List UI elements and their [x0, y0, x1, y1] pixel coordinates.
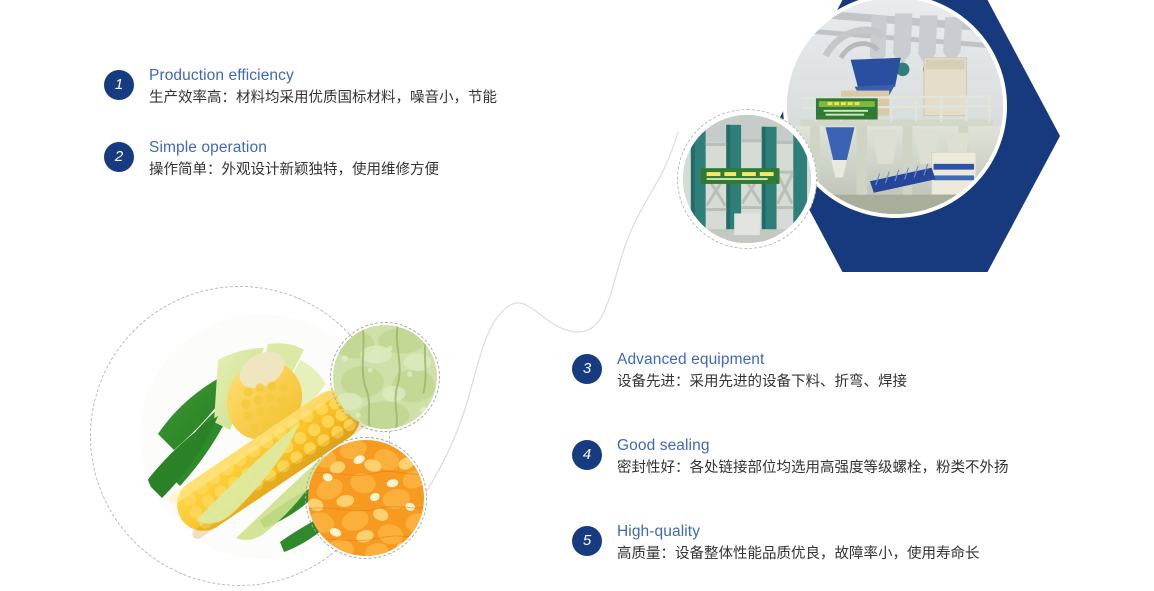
feature-title: Simple operation	[149, 138, 439, 158]
hexagon-photo-cluster	[660, 0, 1154, 292]
feature-badge-4: 4	[572, 440, 602, 470]
feature-badge-2: 2	[104, 142, 134, 172]
feature-badge-5: 5	[572, 526, 602, 556]
factory-secondary-photo	[677, 109, 817, 249]
feature-item[interactable]: 1 Production efficiency 生产效率高：材料均采用优质国标材…	[104, 66, 574, 110]
feature-title: Production efficiency	[149, 66, 497, 86]
feature-section: 1 Production efficiency 生产效率高：材料均采用优质国标材…	[0, 0, 1154, 591]
feature-list-bottom-right: 3 Advanced equipment 设备先进：采用先进的设备下料、折弯、焊…	[572, 350, 1092, 591]
corn-photo-cluster	[90, 282, 490, 591]
feature-text: High-quality 高质量：设备整体性能品质优良，故障率小，使用寿命长	[617, 522, 980, 566]
feature-badge-3: 3	[572, 354, 602, 384]
corn-grits-chip	[305, 437, 427, 559]
corn-paste-chip	[330, 322, 440, 432]
feature-item[interactable]: 4 Good sealing 密封性好：各处链接部位均选用高强度等级螺栓，粉类不…	[572, 436, 1092, 480]
feature-desc: 密封性好：各处链接部位均选用高强度等级螺栓，粉类不外扬	[617, 457, 1009, 480]
feature-badge-1: 1	[104, 70, 134, 100]
feature-desc: 高质量：设备整体性能品质优良，故障率小，使用寿命长	[617, 543, 980, 566]
feature-item[interactable]: 3 Advanced equipment 设备先进：采用先进的设备下料、折弯、焊…	[572, 350, 1092, 394]
feature-text: Advanced equipment 设备先进：采用先进的设备下料、折弯、焊接	[617, 350, 907, 394]
feature-text: Production efficiency 生产效率高：材料均采用优质国标材料，…	[149, 66, 497, 110]
feature-text: Simple operation 操作简单：外观设计新颖独特，使用维修方便	[149, 138, 439, 182]
feature-title: High-quality	[617, 522, 980, 542]
feature-desc: 操作简单：外观设计新颖独特，使用维修方便	[149, 159, 439, 182]
feature-item[interactable]: 5 High-quality 高质量：设备整体性能品质优良，故障率小，使用寿命长	[572, 522, 1092, 566]
feature-title: Good sealing	[617, 436, 1009, 456]
feature-item[interactable]: 2 Simple operation 操作简单：外观设计新颖独特，使用维修方便	[104, 138, 574, 182]
feature-list-top-left: 1 Production efficiency 生产效率高：材料均采用优质国标材…	[104, 66, 574, 210]
feature-text: Good sealing 密封性好：各处链接部位均选用高强度等级螺栓，粉类不外扬	[617, 436, 1009, 480]
feature-desc: 生产效率高：材料均采用优质国标材料，噪音小，节能	[149, 87, 497, 110]
feature-desc: 设备先进：采用先进的设备下料、折弯、焊接	[617, 371, 907, 394]
feature-title: Advanced equipment	[617, 350, 907, 370]
